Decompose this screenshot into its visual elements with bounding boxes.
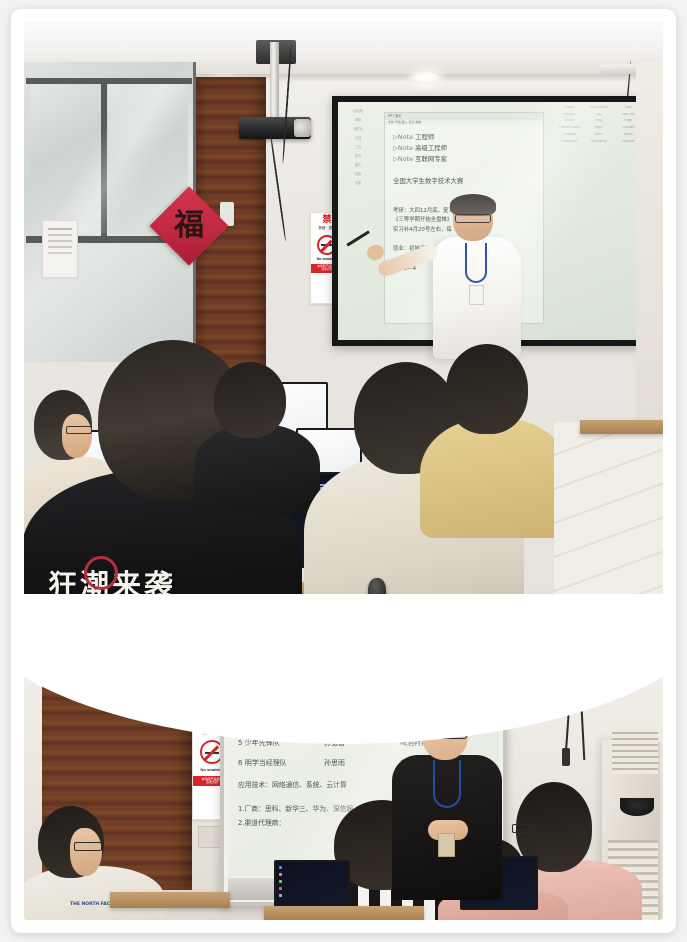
desktop-dock-column: 此电脑 网络 回收站 文档 工具 软件 图片 视频 设置 <box>341 108 375 185</box>
student-shoulders <box>420 418 570 538</box>
row-index-and-team: 2 奇思妙想 <box>238 680 324 687</box>
slide-bullet-row: ▷Note 互联网专家 <box>393 154 537 165</box>
row-index: 3 <box>238 699 242 707</box>
row-index: 2 <box>238 679 242 687</box>
dock-item[interactable]: 此电脑 <box>341 108 375 113</box>
row-team: 奇思妙想 <box>245 679 273 687</box>
taskbar-icon[interactable] <box>279 887 282 890</box>
floor-tiles <box>554 422 663 627</box>
dock-item-label: 网络 <box>341 117 375 122</box>
row-index-and-team: 4 独秀队 <box>238 720 324 727</box>
row-team: 少年先锋队 <box>245 739 280 747</box>
slide-bullet-row: ▷Note 高级工程师 <box>393 143 537 154</box>
dock-item-label: 回收站 <box>341 126 375 131</box>
desktop-icon-grid: Adobe WPS Office Visio Chrome QQ WeChat … <box>556 106 642 143</box>
desktop-icon[interactable]: Packet Tracer <box>556 126 583 130</box>
desktop-icon-label: Xshell <box>556 119 583 123</box>
row-leader: 魏雨宁 <box>324 680 400 687</box>
row-leader: 孙思雨 <box>324 760 400 767</box>
row-index-and-team: 6 明学当经理队 <box>238 760 324 767</box>
dock-item[interactable]: 软件 <box>341 153 375 158</box>
id-badge <box>438 833 455 857</box>
bottom-photo-clip: 禁 禁烟 · 禁火 No smoking 本场所严禁烟火 违者罚款 <box>24 620 663 920</box>
desktop-icon[interactable]: Putty <box>585 119 612 123</box>
slide-bullet-text: 高级工程师 <box>415 144 447 152</box>
dock-item-label: 图片 <box>341 162 375 167</box>
top-classroom-photo: 福 禁 禁烟 · 禁火 No smoking 本场所严禁烟火 违 <box>24 22 663 627</box>
slide-bullet-row: ▷Note 工程师 <box>393 132 537 143</box>
glasses-icon <box>423 728 467 739</box>
window-mullion-vertical <box>101 80 107 240</box>
desktop-icon-label: Chrome <box>556 113 583 117</box>
desktop-icon-label: eNSP <box>585 126 612 130</box>
ac-vent-icon <box>620 798 654 816</box>
cable-plug <box>562 748 570 766</box>
dock-item[interactable]: 设置 <box>341 180 375 185</box>
note-bullet-icon: ▷Note <box>393 155 413 163</box>
note-bullet-icon: ▷Note <box>393 133 413 141</box>
tshirt-red-circle <box>84 556 118 590</box>
row-leader: 苏弘晋 <box>324 740 400 747</box>
desktop-icon[interactable]: Adobe <box>556 106 583 110</box>
desktop-icon-label: Packet Tracer <box>556 126 583 130</box>
desktop-icon[interactable]: PowerPnt <box>556 140 583 144</box>
taskbar-icon[interactable] <box>279 894 282 897</box>
desktop-icon-label: Notepad <box>556 133 583 137</box>
photo-stage: 福 禁 禁烟 · 禁火 No smoking 本场所严禁烟火 违 <box>24 22 663 920</box>
desktop-icon[interactable]: Notepad <box>556 133 583 137</box>
instructor-hair <box>450 194 496 216</box>
north-face-logo: THE NORTH FACE <box>70 902 113 907</box>
glasses-icon <box>74 842 102 851</box>
student-head <box>446 344 528 434</box>
desk-bottom-center <box>264 906 424 920</box>
desktop-icon-label: PowerPnt <box>556 140 583 144</box>
lanyard <box>465 243 487 283</box>
student-yellow-shirt <box>424 344 554 524</box>
dock-item-label: 此电脑 <box>341 108 375 113</box>
taskbar-icon[interactable] <box>279 880 282 883</box>
student-face <box>70 828 102 876</box>
row-team: Bug最多队 <box>245 699 280 707</box>
desktop-icon[interactable]: Chrome <box>556 113 583 117</box>
dock-item-label: 文档 <box>341 135 375 140</box>
slide-bullet-text: 互联网专家 <box>415 155 447 163</box>
window-frame-top <box>26 78 192 84</box>
student-middle <box>200 362 310 492</box>
desk-side-right <box>580 420 663 434</box>
dock-item[interactable]: 图片 <box>341 162 375 167</box>
taskbar-icon[interactable] <box>279 866 282 869</box>
bottom-classroom-photo: 禁 禁烟 · 禁火 No smoking 本场所严禁烟火 违者罚款 <box>24 620 663 920</box>
instructor-top <box>429 197 521 357</box>
desktop-icon[interactable]: Photoshop <box>585 140 612 144</box>
desktop-icon[interactable]: QQ <box>585 113 612 117</box>
desk-bottom-left <box>110 892 230 908</box>
ac-top-grille <box>612 732 658 774</box>
row-slogan: 天马行空创意无限 <box>400 680 489 687</box>
row-index-and-team: 5 少年先锋队 <box>238 740 324 747</box>
row-index: 4 <box>238 719 242 727</box>
glasses-icon <box>512 824 534 833</box>
lanyard <box>433 760 461 808</box>
row-index: 5 <box>238 739 242 747</box>
desktop-icon-label: Photoshop <box>585 140 612 144</box>
id-badge <box>469 285 484 305</box>
wall-notice-poster <box>42 220 78 278</box>
dock-item-label: 设置 <box>341 180 375 185</box>
row-team: 独秀队 <box>245 719 266 727</box>
desktop-icon-label: WPS Office <box>585 106 612 110</box>
dock-item[interactable]: 回收站 <box>341 126 375 131</box>
desktop-icon-label: Putty <box>585 119 612 123</box>
desktop-icon[interactable]: Xshell <box>556 119 583 123</box>
instructor-hair <box>419 705 471 728</box>
desktop-icon[interactable]: Word <box>585 133 612 137</box>
desktop-icon[interactable]: WPS Office <box>585 106 612 110</box>
photo-collage-card: 福 禁 禁烟 · 禁火 No smoking 本场所严禁烟火 违 <box>11 9 676 933</box>
dock-item[interactable]: 视频 <box>341 171 375 176</box>
slide-bullet-text: 工程师 <box>415 133 434 141</box>
window-pane-1 <box>30 84 100 234</box>
dock-item-label: 工具 <box>341 144 375 149</box>
wall-socket-bottom <box>198 826 222 848</box>
window-titlebar: PPT 演示 <box>385 113 543 120</box>
dock-item[interactable]: 网络 <box>341 117 375 122</box>
row-leader: 毛键 <box>324 720 400 727</box>
dock-item[interactable]: 工具 <box>341 144 375 149</box>
projector-pole <box>270 42 279 120</box>
row-team: 明学当经理队 <box>245 759 287 767</box>
ceiling-light-2 <box>412 72 440 84</box>
glasses-icon <box>455 214 491 223</box>
desktop-icon-label: QQ <box>585 113 612 117</box>
taskbar-icon[interactable] <box>279 873 282 876</box>
note-bullet-icon: ▷Note <box>393 144 413 152</box>
row-index: 6 <box>238 759 242 767</box>
dock-item-label: 视频 <box>341 171 375 176</box>
computer-mouse[interactable] <box>368 578 386 604</box>
student-head <box>214 362 286 438</box>
fu-character: 福 <box>174 211 204 241</box>
cigarette-icon <box>205 752 219 754</box>
slide-heading: 全国大学生数字技术大赛 <box>393 176 537 187</box>
projector-lens-icon <box>294 119 311 137</box>
dock-item-label: 软件 <box>341 153 375 158</box>
row-index-and-team: 3 Bug最多队 <box>238 700 324 707</box>
desktop-icon-label: Adobe <box>556 106 583 110</box>
row-leader: 王乔凡 <box>324 700 400 707</box>
dock-item[interactable]: 文档 <box>341 135 375 140</box>
instructor-bottom <box>392 708 502 898</box>
whiteboard-row: 2 奇思妙想 魏雨宁 天马行空创意无限 <box>238 680 489 687</box>
desktop-icon[interactable]: eNSP <box>585 126 612 130</box>
desktop-icon-label: Word <box>585 133 612 137</box>
